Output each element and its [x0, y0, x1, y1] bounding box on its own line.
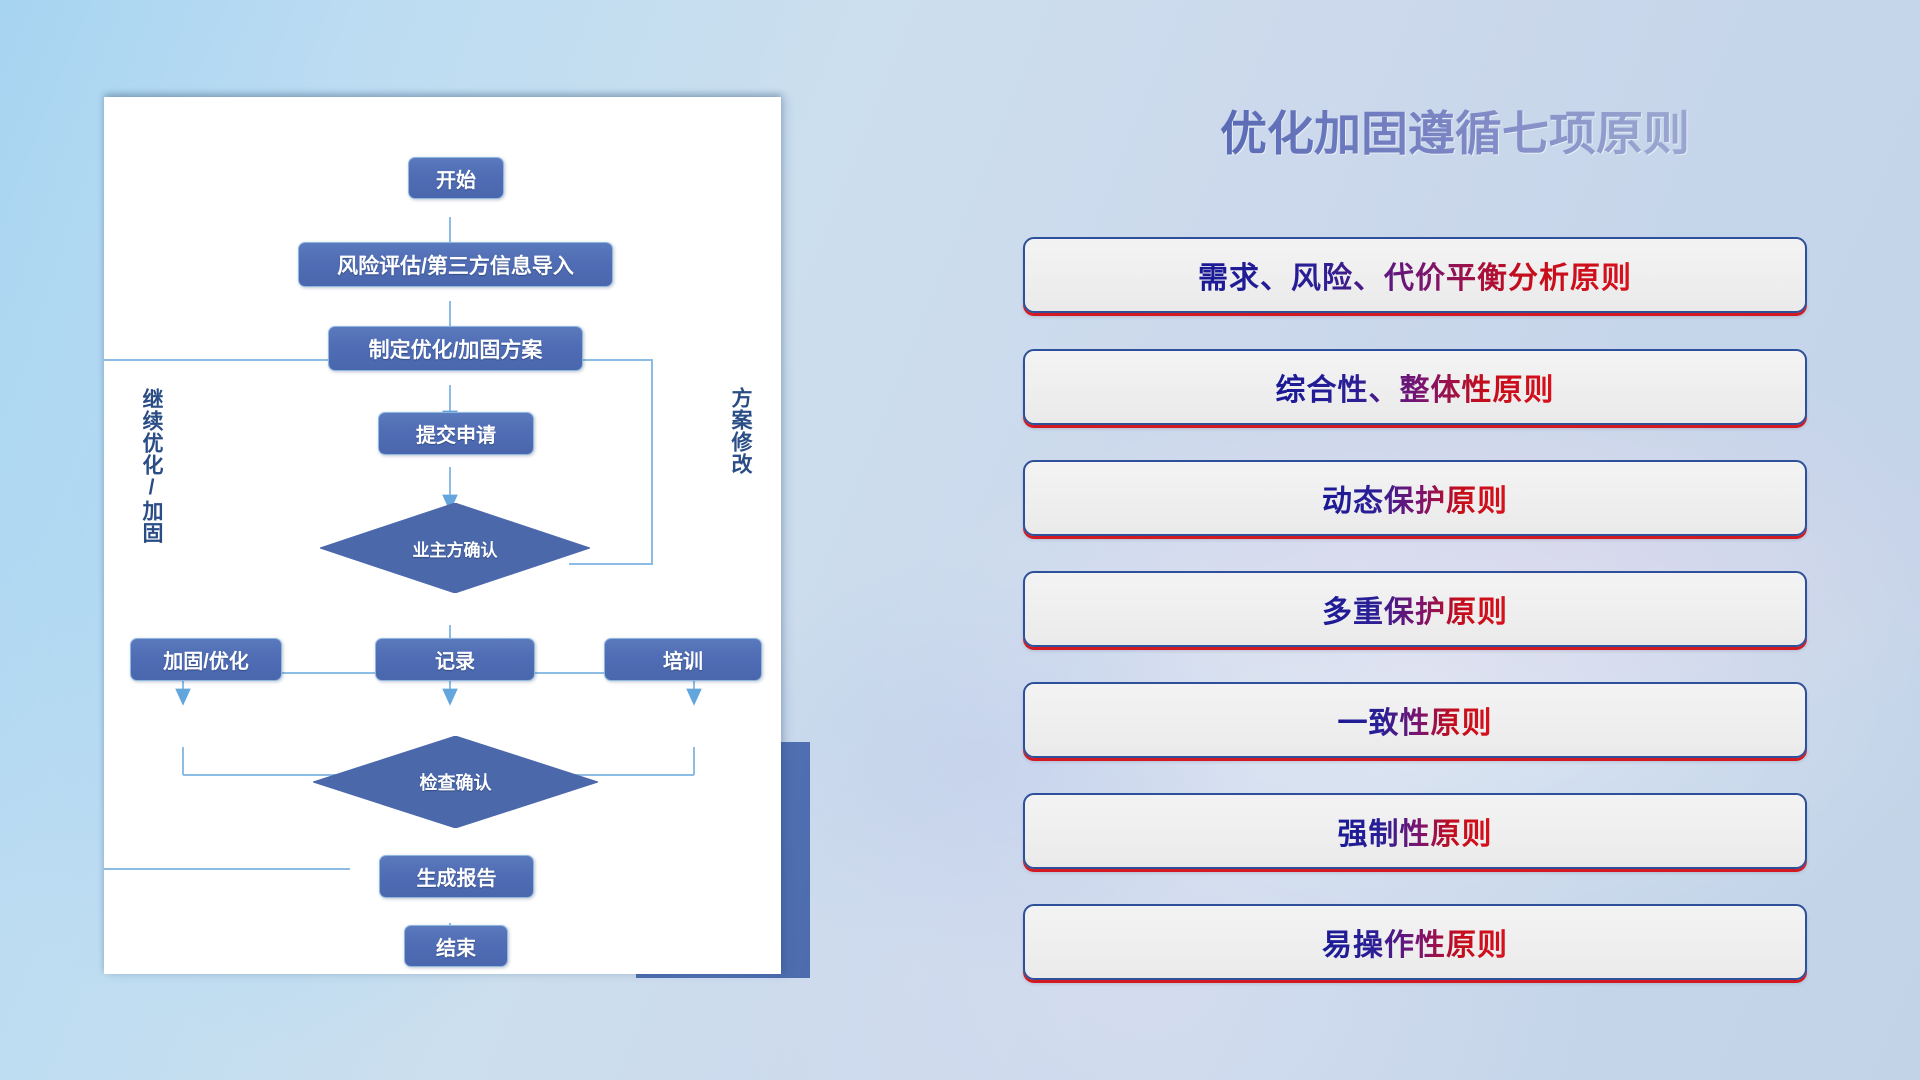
flow-node-risk-assessment[interactable]: 风险评估/第三方信息导入 — [298, 242, 613, 287]
flow-node-reinforce[interactable]: 加固/优化 — [130, 638, 282, 681]
flow-node-generate-report[interactable]: 生成报告 — [379, 855, 534, 898]
principle-item-6-label: 强制性原则 — [1338, 809, 1493, 853]
principle-item-5[interactable]: 一致性原则 — [1023, 682, 1807, 758]
flow-node-record[interactable]: 记录 — [375, 638, 535, 681]
flow-node-plan[interactable]: 制定优化/加固方案 — [328, 326, 583, 371]
edge-label-plan-revision: 方案修改 — [729, 387, 751, 475]
principle-item-6[interactable]: 强制性原则 — [1023, 793, 1807, 869]
principle-item-7-label: 易操作性原则 — [1322, 920, 1508, 964]
principle-item-7[interactable]: 易操作性原则 — [1023, 904, 1807, 980]
flow-node-check-confirm[interactable]: 检查确认 — [313, 736, 598, 828]
flow-node-training[interactable]: 培训 — [604, 638, 762, 681]
flow-node-owner-confirm[interactable]: 业主方确认 — [320, 503, 590, 593]
principle-item-2-label: 综合性、整体性原则 — [1276, 365, 1555, 409]
principle-item-4-label: 多重保护原则 — [1322, 587, 1508, 631]
principle-item-3-label: 动态保护原则 — [1322, 476, 1508, 520]
principles-panel-title: 优化加固遵循七项原则 — [1020, 108, 1890, 160]
principle-item-3[interactable]: 动态保护原则 — [1023, 460, 1807, 536]
principle-item-1-label: 需求、风险、代价平衡分析原则 — [1198, 253, 1632, 297]
principle-item-5-label: 一致性原则 — [1338, 698, 1493, 742]
principle-item-2[interactable]: 综合性、整体性原则 — [1023, 349, 1807, 425]
flow-node-start[interactable]: 开始 — [408, 157, 504, 199]
principle-item-4[interactable]: 多重保护原则 — [1023, 571, 1807, 647]
flow-node-end[interactable]: 结束 — [404, 925, 508, 967]
edge-label-continue-optimize: 继续优化/加固 — [140, 388, 162, 544]
flow-node-submit-application[interactable]: 提交申请 — [378, 412, 534, 455]
principle-item-1[interactable]: 需求、风险、代价平衡分析原则 — [1023, 237, 1807, 313]
